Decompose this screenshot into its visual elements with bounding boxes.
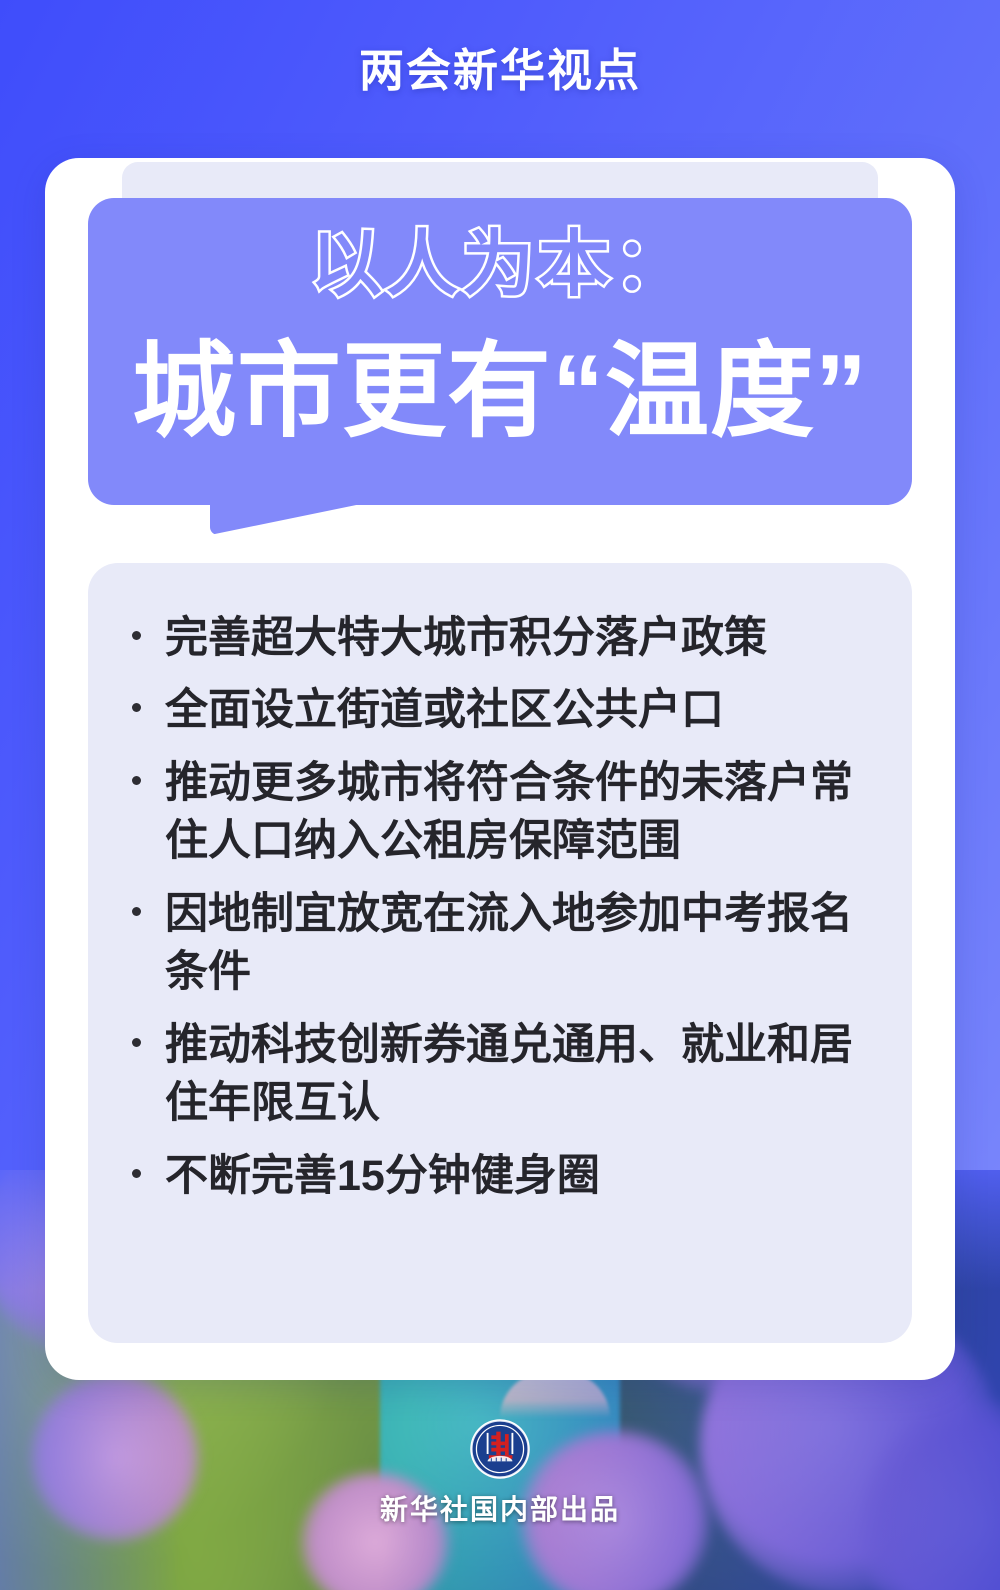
bullet-dot-icon: [132, 609, 165, 640]
page-title: 两会新华视点: [0, 44, 1000, 98]
main-card: 以人为本： 城市更有“温度” 完善超大特大城市积分落户政策 全面设立街道或社区公…: [45, 158, 955, 1380]
content-panel: 完善超大特大城市积分落户政策 全面设立街道或社区公共户口 推动更多城市将符合条件…: [88, 563, 912, 1343]
list-item-label: 推动更多城市将符合条件的未落户常住人口纳入公租房保障范围: [165, 754, 886, 871]
title-line-secondary: 城市更有“温度”: [88, 330, 912, 455]
list-item-label: 因地制宜放宽在流入地参加中考报名条件: [165, 885, 886, 1002]
list-item-label: 完善超大特大城市积分落户政策: [165, 609, 886, 667]
list-item: 推动科技创新券通兑通用、就业和居住年限互认: [132, 1016, 886, 1133]
bullet-dot-icon: [132, 754, 165, 785]
footer-attribution: 新华社国内部出品: [0, 1488, 1000, 1528]
list-item: 全面设立街道或社区公共户口: [132, 681, 886, 739]
list-item: 推动更多城市将符合条件的未落户常住人口纳入公租房保障范围: [132, 754, 886, 871]
list-item: 不断完善15分钟健身圈: [132, 1147, 886, 1205]
list-item-label: 不断完善15分钟健身圈: [165, 1147, 886, 1205]
bullet-dot-icon: [132, 681, 165, 712]
bullet-dot-icon: [132, 1016, 165, 1047]
title-speech-bubble: 以人为本： 城市更有“温度”: [88, 198, 912, 505]
title-line-primary: 以人为本：: [88, 224, 912, 307]
list-item-label: 全面设立街道或社区公共户口: [165, 681, 886, 739]
xinhua-agency-logo-icon: [469, 1418, 531, 1480]
bullet-dot-icon: [132, 1147, 165, 1178]
bullet-dot-icon: [132, 885, 165, 916]
poster-root: 两会新华视点 以人为本： 城市更有“温度” 完善超大特大城市积分落户政策 全面设…: [0, 0, 1000, 1590]
footer: 新华社国内部出品: [0, 1418, 1000, 1528]
list-item-label: 推动科技创新券通兑通用、就业和居住年限互认: [165, 1016, 886, 1133]
list-item: 完善超大特大城市积分落户政策: [132, 609, 886, 667]
speech-bubble-tail: [210, 503, 366, 535]
list-item: 因地制宜放宽在流入地参加中考报名条件: [132, 885, 886, 1002]
policy-bullet-list: 完善超大特大城市积分落户政策 全面设立街道或社区公共户口 推动更多城市将符合条件…: [132, 609, 886, 1219]
